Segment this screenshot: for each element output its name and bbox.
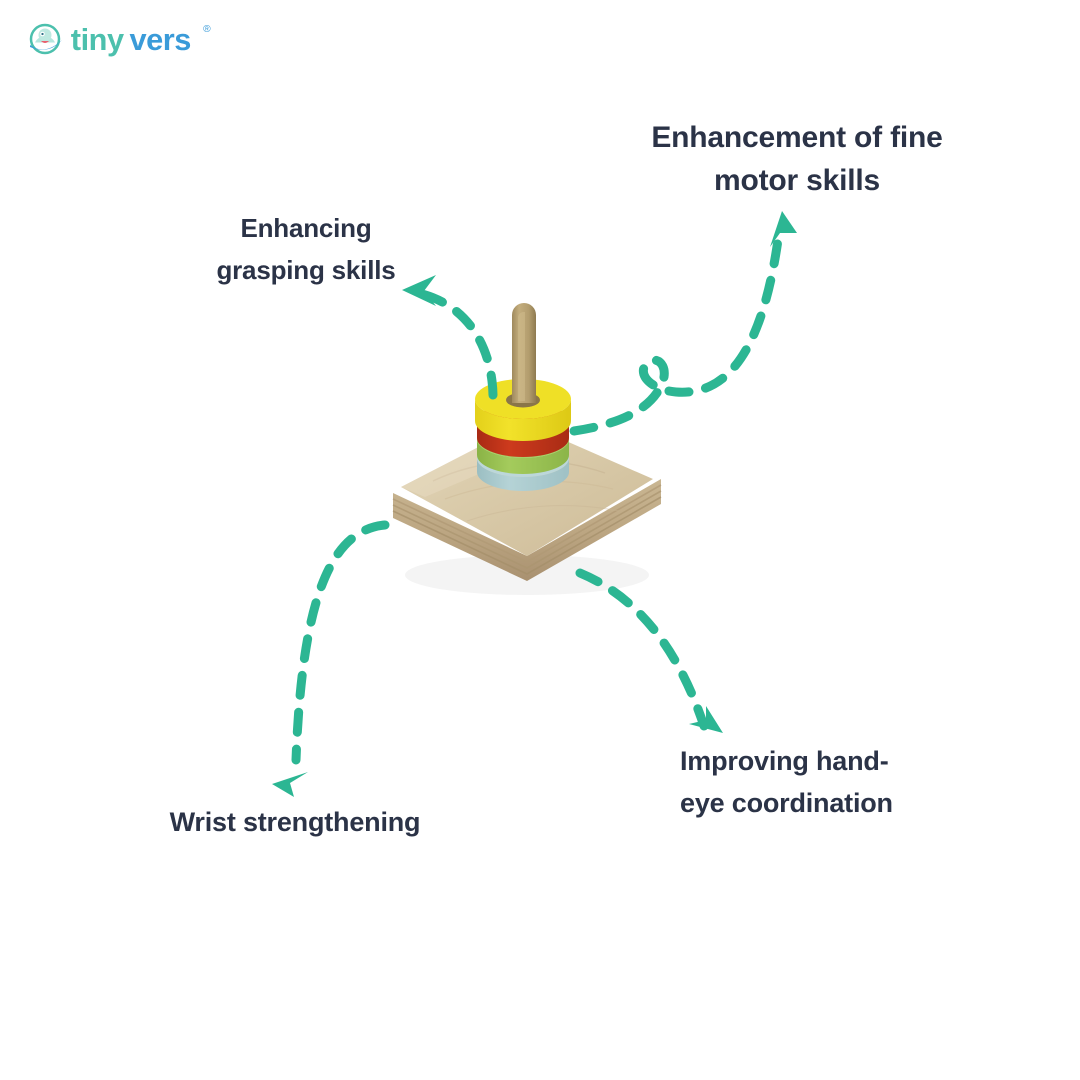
svg-text:®: ® <box>203 24 211 35</box>
brand-logo-wordmark: tiny vers ® <box>70 20 230 61</box>
infographic-canvas: tiny vers ® <box>0 0 1080 1080</box>
label-hand-eye-coordination: Improving hand- eye coordination <box>680 740 980 824</box>
brand-logo-icon <box>26 20 66 60</box>
label-line: motor skills <box>612 159 982 202</box>
label-wrist-strengthening: Wrist strengthening <box>110 802 480 842</box>
brand-logo[interactable]: tiny vers ® <box>26 18 236 62</box>
label-line: Wrist strengthening <box>110 802 480 842</box>
peg-highlight <box>518 312 525 401</box>
svg-text:tiny: tiny <box>71 21 124 56</box>
label-line: Enhancing <box>178 207 434 249</box>
label-line: Improving hand- <box>680 740 980 782</box>
label-line: grasping skills <box>178 249 434 291</box>
arrowhead-hand-eye <box>689 706 723 733</box>
label-line: Enhancement of fine <box>612 116 982 159</box>
label-fine-motor-skills: Enhancement of fine motor skills <box>612 116 982 202</box>
arrowhead-wrist <box>272 772 308 797</box>
label-line: eye coordination <box>680 782 980 824</box>
arrowhead-fine-motor <box>770 211 797 247</box>
product-image-stacking-toy <box>355 275 695 615</box>
label-grasping-skills: Enhancing grasping skills <box>178 207 434 291</box>
svg-text:vers: vers <box>130 21 191 56</box>
